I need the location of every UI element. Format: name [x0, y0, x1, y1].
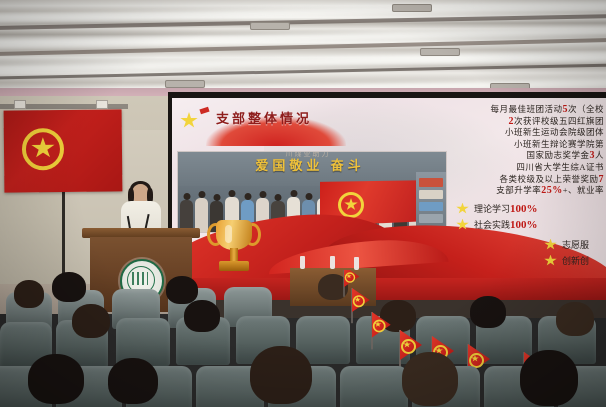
stat-line: 每月最佳班团活动5次（全校 — [452, 104, 604, 116]
auditorium-seat — [340, 366, 408, 407]
audience-head — [28, 354, 84, 404]
audience-head — [108, 358, 158, 404]
auditorium-photo: 支部整体情况 川煤业助力 爱国敬业 奋斗 — [0, 0, 606, 407]
stat-line: 小班新生运动会院级团体 — [452, 127, 604, 139]
audience-head — [470, 296, 506, 328]
bullet-row: 理论学习100% — [456, 202, 594, 215]
audience-head — [250, 346, 312, 404]
speaker-person — [118, 184, 164, 234]
flag-clip — [14, 100, 26, 109]
trophy-icon — [212, 220, 256, 276]
bullet-text: 志愿服 — [562, 238, 589, 251]
youth-league-wall-flag — [4, 109, 123, 192]
stat-line: 四川省大学生综A证书 — [452, 162, 604, 174]
stat-line: 小班新生辩论赛学院第 — [452, 139, 604, 151]
ceiling-fixture — [250, 22, 290, 30]
ceiling-fixture — [420, 48, 460, 56]
audience-head — [556, 302, 594, 336]
ceiling-fixture — [165, 80, 205, 88]
audience-head — [520, 350, 578, 406]
slide-bullet-list-secondary: 志愿服 创新创 — [544, 238, 604, 270]
bullet-text: 社会实践100% — [474, 218, 538, 231]
stat-line: 国家励志奖学金3人 — [452, 150, 604, 162]
photo-banner-text: 爱国敬业 奋斗 — [200, 154, 420, 178]
stat-line: 各类校级及以上荣誉奖励7 — [452, 174, 604, 186]
flag-clip — [96, 100, 108, 109]
ceiling-fixture — [392, 4, 432, 12]
audience-head — [72, 304, 110, 338]
audience-head — [14, 280, 44, 308]
youth-league-star-icon — [22, 128, 64, 170]
audience-head — [166, 276, 198, 304]
bullet-row: 志愿服 — [544, 238, 604, 251]
ceiling — [0, 0, 606, 96]
audience-head — [52, 272, 86, 302]
bullet-text: 理论学习100% — [474, 202, 538, 215]
presentation-screen: 支部整体情况 川煤业助力 爱国敬业 奋斗 — [172, 98, 606, 284]
slide-corner-star-icon — [180, 112, 198, 129]
slide-bullet-list: 理论学习100% 社会实践100% — [456, 202, 594, 234]
audience-head — [184, 300, 220, 332]
star-bullet-icon — [456, 203, 469, 215]
star-bullet-icon — [544, 239, 557, 251]
slide-title: 支部整体情况 — [216, 108, 312, 127]
star-bullet-icon — [456, 219, 469, 231]
audience-area — [0, 270, 606, 407]
bullet-text: 创新创 — [562, 254, 589, 267]
bullet-row: 社会实践100% — [456, 218, 594, 231]
slide-corner-accent — [199, 107, 209, 115]
bullet-row: 创新创 — [544, 254, 604, 267]
stat-line: 2次获评校级五四红旗团 — [452, 116, 604, 128]
audience-head — [402, 352, 458, 406]
stat-line: 支部升学率25%+、就业率 — [452, 185, 604, 197]
star-bullet-icon — [544, 255, 557, 267]
slide-stats-column: 每月最佳班团活动5次（全校 2次获评校级五四红旗团 小班新生运动会院级团体 小班… — [452, 104, 604, 197]
